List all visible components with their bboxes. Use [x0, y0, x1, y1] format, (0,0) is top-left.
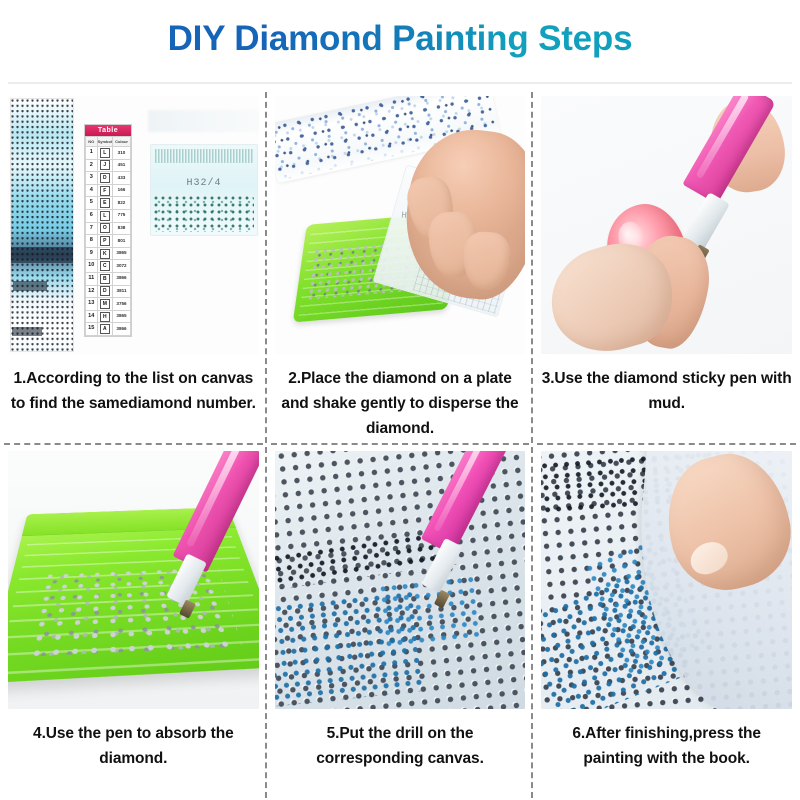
th-symbol: Symbol [97, 137, 112, 147]
cell-symbol: P [97, 235, 112, 248]
step-card-1: Table NO Symbol Colour 1 L 310 [0, 90, 267, 445]
symbol-swatch: K [100, 249, 110, 259]
table-row: 13 M 3756 [86, 298, 131, 311]
bag-seal [155, 149, 253, 163]
step-6-caption: 6.After finishing,press the painting wit… [541, 721, 792, 771]
cell-no: 5 [86, 197, 98, 210]
cell-no: 14 [86, 310, 98, 323]
symbol-swatch: M [100, 299, 110, 309]
step-1-photo: Table NO Symbol Colour 1 L 310 [8, 96, 259, 354]
symbol-swatch: L [100, 148, 110, 158]
step-4-caption: 4.Use the pen to absorb the diamond. [8, 721, 259, 771]
step-card-3: 3.Use the diamond sticky pen with mud. [533, 90, 800, 445]
cell-colour: 310 [113, 147, 131, 160]
step-2-photo: H32/4 [275, 96, 526, 354]
cell-colour: 3756 [113, 298, 131, 311]
cell-symbol: A [97, 323, 112, 336]
table-row: 9 K 3865 [86, 247, 131, 260]
cell-colour: 775 [113, 209, 131, 222]
cell-no: 13 [86, 298, 98, 311]
cell-symbol: O [97, 222, 112, 235]
th-no: NO [86, 137, 98, 147]
cell-symbol: K [97, 247, 112, 260]
bag-beads [154, 196, 254, 232]
step-5-photo [275, 451, 526, 709]
table-row: 15 A 3866 [86, 323, 131, 336]
cell-colour: 433 [113, 172, 131, 185]
cell-no: 15 [86, 323, 98, 336]
page-header: DIY Diamond Painting Steps [0, 0, 800, 78]
step-card-4: 4.Use the pen to absorb the diamond. [0, 445, 267, 800]
cell-colour: 838 [113, 222, 131, 235]
cell-colour: 3865 [113, 247, 131, 260]
symbol-swatch: L [100, 211, 110, 221]
watermark-smudge [148, 110, 259, 132]
finger [462, 231, 511, 291]
step-card-2: H32/4 2.Place the diamond on a plate and… [267, 90, 534, 445]
cell-no: 9 [86, 247, 98, 260]
cell-colour: 3866 [113, 272, 131, 285]
table-row: 11 B 3866 [86, 272, 131, 285]
symbol-swatch: O [100, 223, 110, 233]
th-colour: Colour [113, 137, 131, 147]
diy-diamond-painting-steps-page: DIY Diamond Painting Steps Table [0, 0, 800, 800]
step-6-photo [541, 451, 792, 709]
table-row: 2 J 451 [86, 159, 131, 172]
cell-symbol: M [97, 298, 112, 311]
cell-colour: 801 [113, 235, 131, 248]
cell-no: 7 [86, 222, 98, 235]
cell-no: 8 [86, 235, 98, 248]
table-row: 6 L 775 [86, 209, 131, 222]
colour-code-table: Table NO Symbol Colour 1 L 310 [84, 124, 132, 337]
table-row: 10 C 3072 [86, 260, 131, 273]
diamond-drill-bag: H32/4 [150, 144, 258, 236]
cell-symbol: L [97, 209, 112, 222]
symbol-swatch: H [100, 312, 110, 322]
symbol-swatch: C [100, 261, 110, 271]
symbol-swatch: F [100, 186, 110, 196]
cell-no: 11 [86, 272, 98, 285]
table-row: 1 L 310 [86, 147, 131, 160]
cell-colour: 3865 [113, 310, 131, 323]
cell-no: 2 [86, 159, 98, 172]
table-row: 3 D 433 [86, 172, 131, 185]
cell-symbol: B [97, 272, 112, 285]
cell-symbol: C [97, 260, 112, 273]
cell-no: 1 [86, 147, 98, 160]
symbol-swatch: A [100, 324, 110, 334]
diamond-drills [33, 568, 242, 657]
table-row: 4 F 166 [86, 184, 131, 197]
symbol-swatch: J [100, 160, 110, 170]
table-row: 12 D 3811 [86, 285, 131, 298]
step-1-caption: 1.According to the list on canvas to fin… [8, 366, 259, 416]
step-card-6: 6.After finishing,press the painting wit… [533, 445, 800, 800]
step-card-5: 5.Put the drill on the corresponding can… [267, 445, 534, 800]
table-row: 14 H 3865 [86, 310, 131, 323]
cell-no: 6 [86, 209, 98, 222]
cell-colour: 451 [113, 159, 131, 172]
symbol-swatch: D [100, 286, 110, 296]
canvas-dark-band [13, 281, 47, 291]
cell-no: 4 [86, 184, 98, 197]
cell-colour: 3072 [113, 260, 131, 273]
cell-symbol: J [97, 159, 112, 172]
printed-canvas [10, 98, 74, 352]
colour-code-table-body: NO Symbol Colour 1 L 310 2 J [86, 137, 131, 336]
step-4-photo [8, 451, 259, 709]
table-row: 8 P 801 [86, 235, 131, 248]
cell-no: 3 [86, 172, 98, 185]
cell-symbol: E [97, 197, 112, 210]
table-row: 5 E 822 [86, 197, 131, 210]
canvas-dark-band [11, 247, 73, 263]
canvas-symbol-dots [11, 99, 73, 351]
symbol-swatch: E [100, 198, 110, 208]
colour-code-table-title: Table [85, 125, 131, 136]
cell-symbol: H [97, 310, 112, 323]
symbol-swatch: B [100, 274, 110, 284]
cell-colour: 822 [113, 197, 131, 210]
canvas-dark-band [12, 327, 42, 336]
page-title: DIY Diamond Painting Steps [168, 19, 633, 59]
cell-symbol: L [97, 147, 112, 160]
cell-colour: 166 [113, 184, 131, 197]
step-2-caption: 2.Place the diamond on a plate and shake… [275, 366, 526, 441]
cell-symbol: D [97, 285, 112, 298]
header-divider [8, 82, 792, 84]
cell-symbol: F [97, 184, 112, 197]
cell-colour: 3866 [113, 323, 131, 336]
bag-label: H32/4 [151, 178, 257, 189]
step-5-caption: 5.Put the drill on the corresponding can… [275, 721, 526, 771]
table-header-row: NO Symbol Colour [86, 137, 131, 147]
cell-no: 10 [86, 260, 98, 273]
step-3-photo [541, 96, 792, 354]
cell-symbol: D [97, 172, 112, 185]
table-row: 7 O 838 [86, 222, 131, 235]
cell-colour: 3811 [113, 285, 131, 298]
step-3-caption: 3.Use the diamond sticky pen with mud. [541, 366, 792, 416]
cell-no: 12 [86, 285, 98, 298]
colour-code-table-grid: NO Symbol Colour 1 L 310 2 J [85, 136, 131, 336]
symbol-swatch: P [100, 236, 110, 246]
steps-grid: Table NO Symbol Colour 1 L 310 [0, 90, 800, 800]
symbol-swatch: D [100, 173, 110, 183]
